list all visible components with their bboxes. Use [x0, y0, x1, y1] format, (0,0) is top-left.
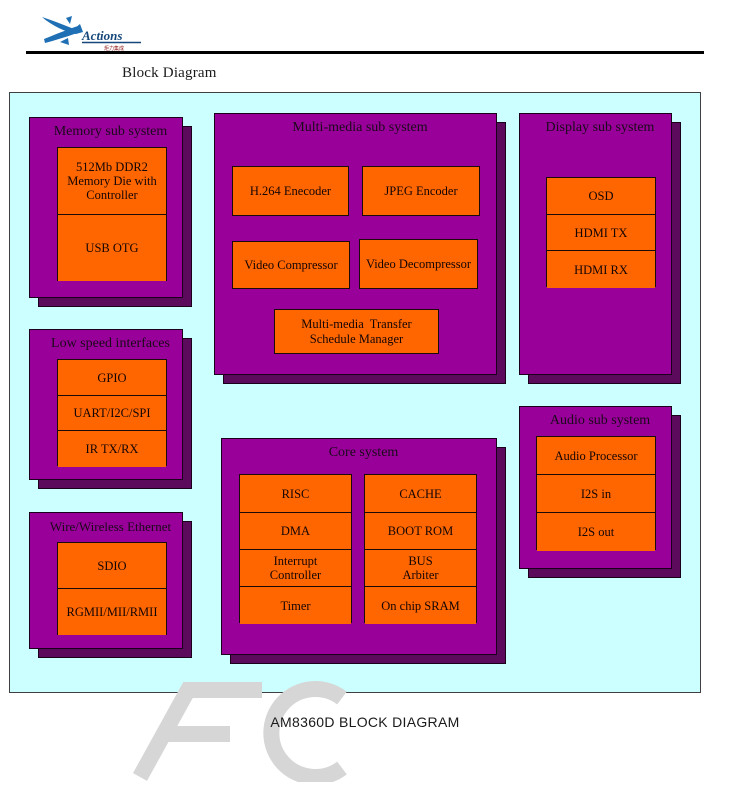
- unit-h264-encoder[interactable]: H.264 Enecoder: [232, 166, 349, 216]
- unit-video-compressor[interactable]: Video Compressor: [232, 241, 350, 289]
- subsystem-title: Multi-media sub system: [214, 120, 506, 136]
- unit-dma[interactable]: DMA: [240, 513, 351, 550]
- unit-on-chip-sram[interactable]: On chip SRAM: [365, 587, 476, 624]
- unit-rgmii-mii-rmii[interactable]: RGMII/MII/RMII: [58, 589, 166, 635]
- unit-stack-ethernet: SDIO RGMII/MII/RMII: [57, 542, 167, 635]
- subsystem-title: Low speed interfaces: [29, 336, 192, 352]
- subsystem-core[interactable]: Core system RISC DMA InterruptController…: [221, 438, 506, 664]
- diagram-caption: AM8360D BLOCK DIAGRAM: [0, 714, 730, 730]
- subsystem-title: Audio sub system: [519, 413, 681, 429]
- unit-ir-tx-rx[interactable]: IR TX/RX: [58, 431, 166, 467]
- subsystem-ethernet[interactable]: Wire/Wireless Ethernet SDIO RGMII/MII/RM…: [29, 512, 192, 658]
- unit-interrupt-controller[interactable]: InterruptController: [240, 550, 351, 587]
- unit-gpio[interactable]: GPIO: [58, 360, 166, 396]
- unit-video-decompressor[interactable]: Video Decompressor: [359, 239, 478, 289]
- unit-hdmi-tx[interactable]: HDMI TX: [547, 215, 655, 251]
- unit-stack-core-right: CACHE BOOT ROM BUSArbiter On chip SRAM: [364, 474, 477, 623]
- subsystem-display[interactable]: Display sub system OSD HDMI TX HDMI RX: [519, 113, 681, 384]
- unit-usb-otg[interactable]: USB OTG: [58, 215, 166, 281]
- unit-stack-display: OSD HDMI TX HDMI RX: [546, 177, 656, 287]
- unit-boot-rom[interactable]: BOOT ROM: [365, 513, 476, 550]
- actions-logo-text: Actions: [81, 28, 122, 43]
- actions-x-logo-mark: [42, 16, 83, 45]
- unit-stack-audio: Audio Processor I2S in I2S out: [536, 436, 656, 550]
- subsystem-title: Memory sub system: [29, 124, 192, 140]
- subsystem-title: Wire/Wireless Ethernet: [29, 519, 192, 535]
- unit-i2s-out[interactable]: I2S out: [537, 513, 655, 551]
- subsystem-title: Core system: [221, 445, 506, 461]
- unit-stack-memory: 512Mb DDR2Memory Die withController USB …: [57, 147, 167, 281]
- unit-risc[interactable]: RISC: [240, 475, 351, 513]
- unit-sdio[interactable]: SDIO: [58, 543, 166, 589]
- unit-ddr2-memory-die[interactable]: 512Mb DDR2Memory Die withController: [58, 148, 166, 215]
- page-subtitle: Block Diagram: [122, 65, 217, 82]
- subsystem-audio[interactable]: Audio sub system Audio Processor I2S in …: [519, 406, 681, 578]
- unit-audio-processor[interactable]: Audio Processor: [537, 437, 655, 475]
- unit-i2s-in[interactable]: I2S in: [537, 475, 655, 513]
- unit-stack-low-speed: GPIO UART/I2C/SPI IR TX/RX: [57, 359, 167, 466]
- unit-multimedia-transfer-schedule-manager[interactable]: Multi-media TransferSchedule Manager: [274, 309, 439, 354]
- unit-jpeg-encoder[interactable]: JPEG Encoder: [362, 166, 480, 216]
- unit-osd[interactable]: OSD: [547, 178, 655, 215]
- subsystem-low-speed-interfaces[interactable]: Low speed interfaces GPIO UART/I2C/SPI I…: [29, 329, 192, 489]
- subsystem-title: Display sub system: [519, 120, 681, 136]
- unit-cache[interactable]: CACHE: [365, 475, 476, 513]
- unit-bus-arbiter[interactable]: BUSArbiter: [365, 550, 476, 587]
- unit-stack-core-left: RISC DMA InterruptController Timer: [239, 474, 352, 623]
- actions-logo: Actions 炬力集成: [36, 12, 146, 52]
- header-divider: [26, 51, 704, 54]
- unit-timer[interactable]: Timer: [240, 587, 351, 624]
- unit-uart-i2c-spi[interactable]: UART/I2C/SPI: [58, 396, 166, 431]
- subsystem-memory[interactable]: Memory sub system 512Mb DDR2Memory Die w…: [29, 117, 192, 307]
- subsystem-multimedia[interactable]: Multi-media sub system H.264 Enecoder JP…: [214, 113, 506, 384]
- block-diagram-canvas: Memory sub system 512Mb DDR2Memory Die w…: [9, 92, 701, 693]
- unit-hdmi-rx[interactable]: HDMI RX: [547, 251, 655, 288]
